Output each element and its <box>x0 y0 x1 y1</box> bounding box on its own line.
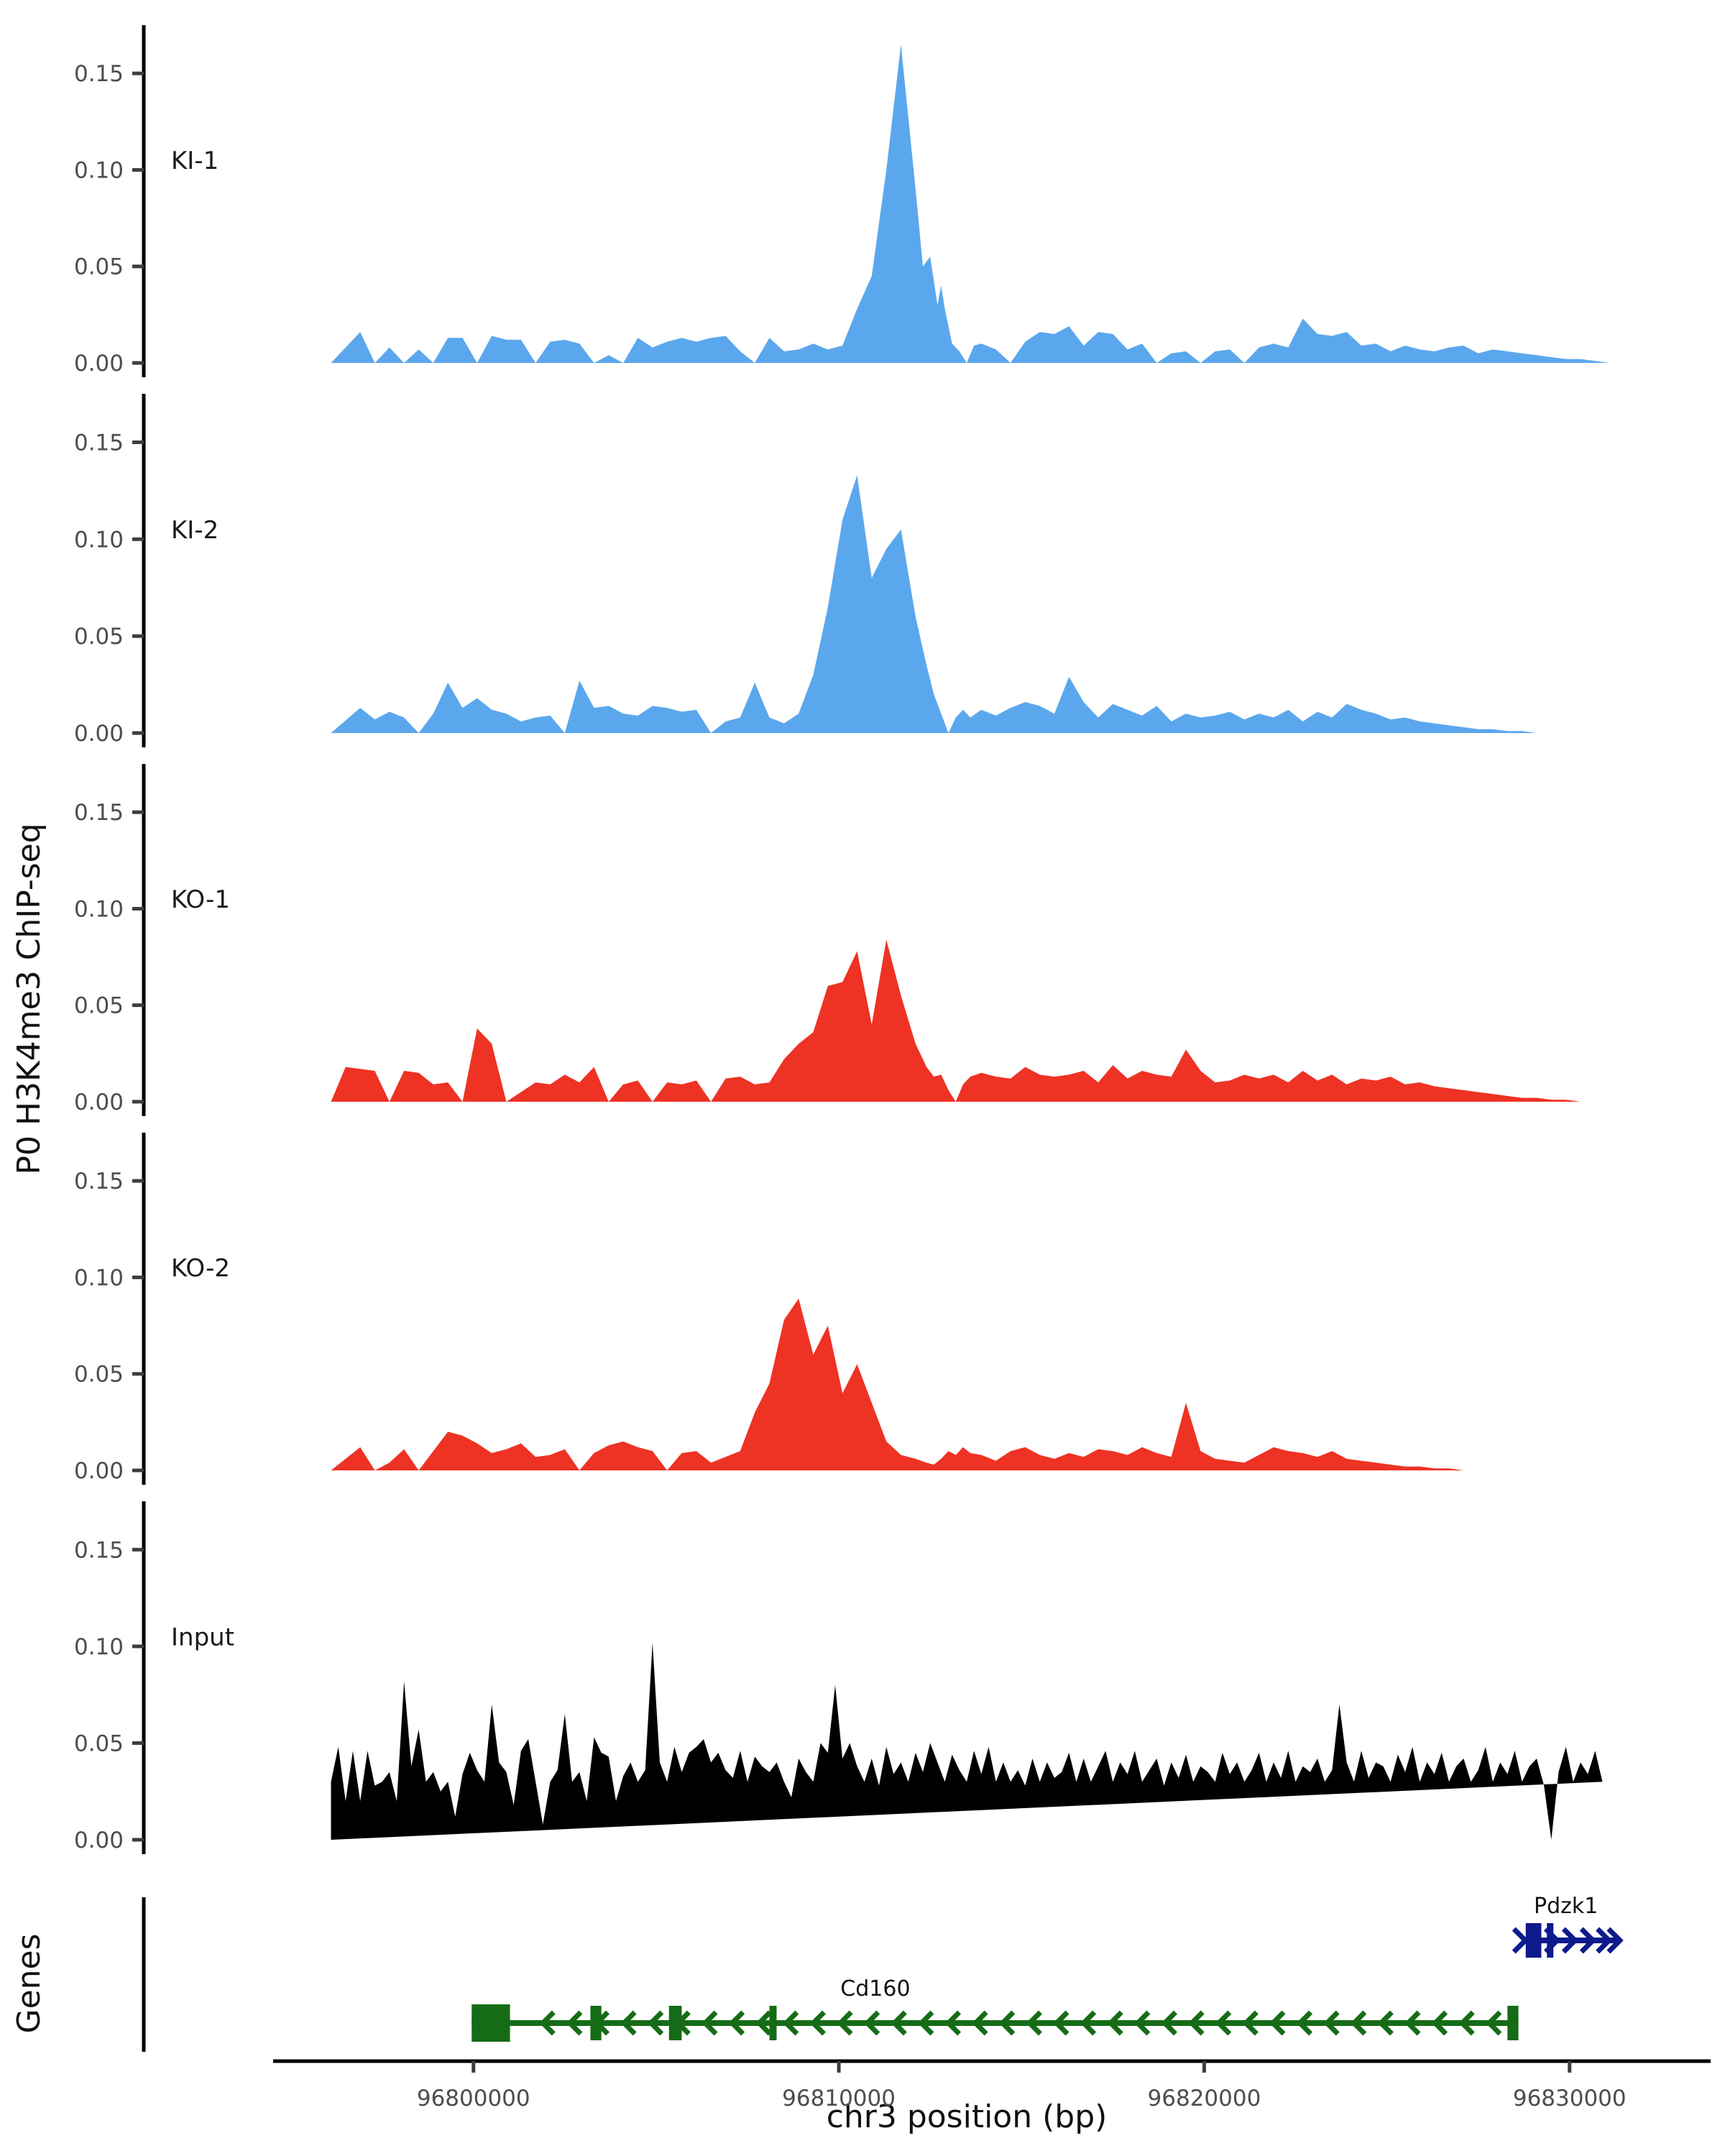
y-tick-label: 0.15 <box>74 800 124 826</box>
x-tick-label: 96810000 <box>782 2086 896 2111</box>
y-tick-label: 0.05 <box>74 624 124 650</box>
y-tick-label: 0.15 <box>74 1169 124 1194</box>
y-tick-label: 0.05 <box>74 1362 124 1388</box>
y-tick-label: 0.00 <box>74 351 124 377</box>
y-tick-label: 0.00 <box>74 1828 124 1853</box>
x-tick-label: 96800000 <box>417 2086 530 2111</box>
y-tick-label: 0.15 <box>74 61 124 87</box>
gene-label-cd160: Cd160 <box>840 1976 910 2001</box>
gene-exon <box>770 2006 777 2040</box>
x-tick-label: 96820000 <box>1148 2086 1261 2111</box>
y-tick-label: 0.00 <box>74 1458 124 1484</box>
y-tick-label: 0.15 <box>74 430 124 456</box>
y-tick-label: 0.15 <box>74 1537 124 1563</box>
genes-panel-title: Genes <box>11 1933 47 2033</box>
track-label-ko-1: KO-1 <box>171 885 230 914</box>
y-tick-label: 0.05 <box>74 254 124 280</box>
gene-exon <box>1507 2006 1518 2040</box>
x-tick-label: 96830000 <box>1513 2086 1627 2111</box>
y-tick-label: 0.10 <box>74 896 124 922</box>
track-label-input: Input <box>171 1623 234 1651</box>
y-axis-title: P0 H3K4me3 ChIP-seq <box>11 823 47 1174</box>
y-tick-label: 0.10 <box>74 157 124 183</box>
y-tick-label: 0.10 <box>74 1265 124 1291</box>
y-tick-label: 0.00 <box>74 721 124 747</box>
track-label-ki-2: KI-2 <box>171 516 218 545</box>
track-label-ki-1: KI-1 <box>171 147 218 175</box>
y-tick-label: 0.05 <box>74 993 124 1019</box>
y-tick-label: 0.10 <box>74 1634 124 1660</box>
track-label-ko-2: KO-2 <box>171 1254 230 1283</box>
gene-label-pdzk1: Pdzk1 <box>1534 1894 1598 1919</box>
y-tick-label: 0.05 <box>74 1731 124 1756</box>
genome-browser-figure: P0 H3K4me3 ChIP-seq Genes chr3 position … <box>0 0 1725 2156</box>
y-tick-label: 0.10 <box>74 527 124 553</box>
y-tick-label: 0.00 <box>74 1089 124 1115</box>
gene-exon <box>471 2004 510 2042</box>
